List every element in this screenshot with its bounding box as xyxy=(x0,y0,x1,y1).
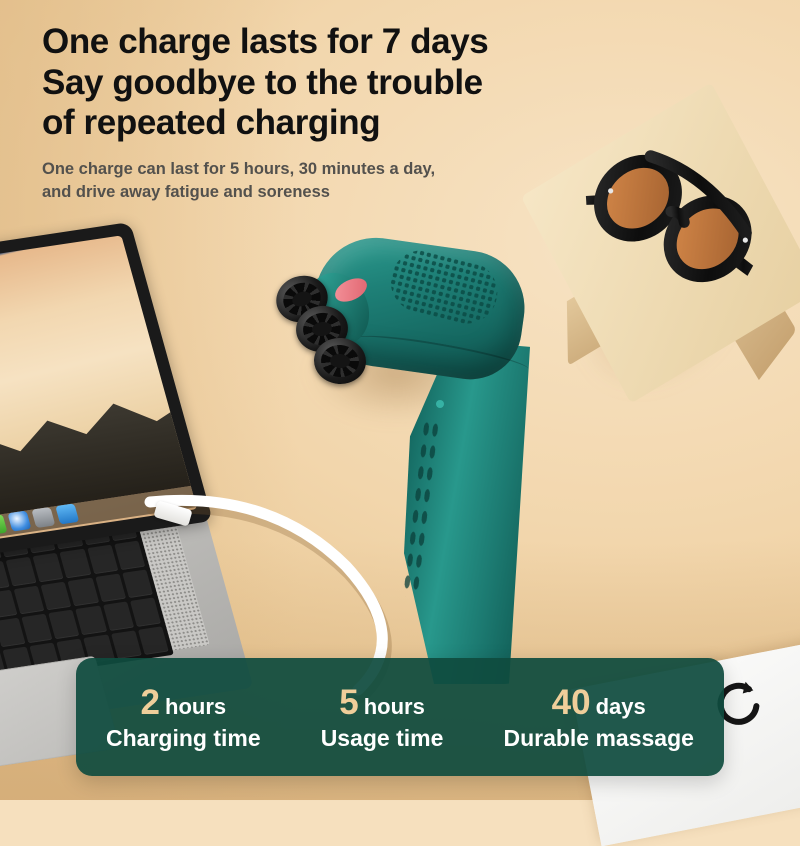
stat-label: Charging time xyxy=(106,727,261,750)
subhead-line-2: and drive away fatigue and soreness xyxy=(42,181,582,204)
keyboard-key xyxy=(76,606,107,635)
stat-label: Durable massage xyxy=(503,727,693,750)
stat-charging-time: 2hours Charging time xyxy=(100,685,267,750)
keyboard-key xyxy=(68,577,99,606)
stat-number: 5 xyxy=(339,683,358,722)
dock-icon-messages xyxy=(0,514,7,535)
keyboard-key xyxy=(41,581,72,610)
headline-line-1: One charge lasts for 7 days xyxy=(42,22,582,63)
stat-unit: hours xyxy=(165,694,226,719)
keyboard-key xyxy=(21,614,52,643)
stats-panel: 2hours Charging time 5hours Usage time 4… xyxy=(76,658,724,776)
neck-massager-icon xyxy=(262,232,602,682)
keyboard-key xyxy=(48,610,79,639)
keyboard-key xyxy=(0,618,25,647)
dock-icon-safari xyxy=(7,510,31,531)
subhead-block: One charge can last for 5 hours, 30 minu… xyxy=(42,158,582,204)
massager-indicator-dot xyxy=(436,400,444,408)
stat-number: 40 xyxy=(552,683,591,722)
keyboard-key xyxy=(33,553,64,582)
stat-unit: hours xyxy=(364,694,425,719)
stat-top-row: 2hours xyxy=(106,685,261,720)
keyboard-key xyxy=(13,585,44,614)
stat-top-row: 40days xyxy=(503,685,693,720)
dock-icon-settings xyxy=(31,506,55,527)
stat-top-row: 5hours xyxy=(321,685,444,720)
stat-usage-time: 5hours Usage time xyxy=(315,685,450,750)
subhead-line-1: One charge can last for 5 hours, 30 minu… xyxy=(42,158,582,181)
keyboard-key xyxy=(6,557,37,586)
headline-line-2: Say goodbye to the trouble xyxy=(42,63,582,104)
stat-number: 2 xyxy=(141,683,160,722)
headline-line-3: of repeated charging xyxy=(42,103,582,144)
stat-durable-massage: 40days Durable massage xyxy=(497,685,699,750)
keyboard-key xyxy=(60,549,91,578)
keyboard-key xyxy=(87,545,118,574)
stat-label: Usage time xyxy=(321,727,444,750)
stat-unit: days xyxy=(596,694,646,719)
headline-block: One charge lasts for 7 days Say goodbye … xyxy=(42,22,582,203)
dock-icon-mail xyxy=(55,503,79,524)
